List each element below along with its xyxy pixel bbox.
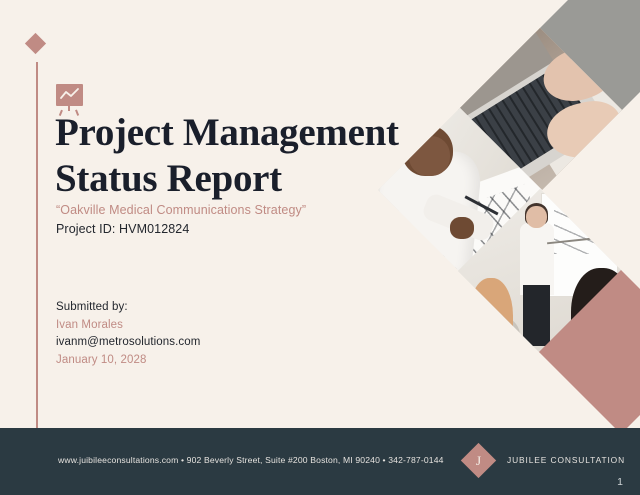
submitter-email: ivanm@metrosolutions.com bbox=[56, 334, 200, 352]
vertical-accent-line bbox=[36, 62, 38, 428]
submission-date: January 10, 2028 bbox=[56, 352, 200, 370]
title-line-1: Project Management bbox=[55, 110, 415, 156]
project-subtitle: “Oakville Medical Communications Strateg… bbox=[56, 203, 306, 217]
footer-contact-info: www.juibileeconsultations.com • 902 Beve… bbox=[58, 455, 444, 465]
presentation-chart-icon bbox=[56, 84, 83, 106]
brand-logo: J JUBILEE CONSULTATION bbox=[466, 445, 626, 479]
submitted-by-block: Submitted by: Ivan Morales ivanm@metroso… bbox=[56, 299, 200, 369]
project-id: Project ID: HVM012824 bbox=[56, 222, 189, 236]
logo-letter: J bbox=[466, 448, 491, 473]
cover-page: Project Management Status Report “Oakvil… bbox=[0, 0, 640, 495]
submitted-by-label: Submitted by: bbox=[56, 299, 200, 317]
submitter-name: Ivan Morales bbox=[56, 317, 200, 335]
brand-name: JUBILEE CONSULTATION bbox=[507, 455, 625, 465]
diamond-accent-icon bbox=[25, 33, 46, 54]
page-title: Project Management Status Report bbox=[55, 110, 415, 202]
title-line-2: Status Report bbox=[55, 156, 415, 202]
diagonal-photo-collage bbox=[400, 0, 640, 430]
page-footer: www.juibileeconsultations.com • 902 Beve… bbox=[0, 428, 640, 495]
page-number: 1 bbox=[617, 476, 623, 488]
